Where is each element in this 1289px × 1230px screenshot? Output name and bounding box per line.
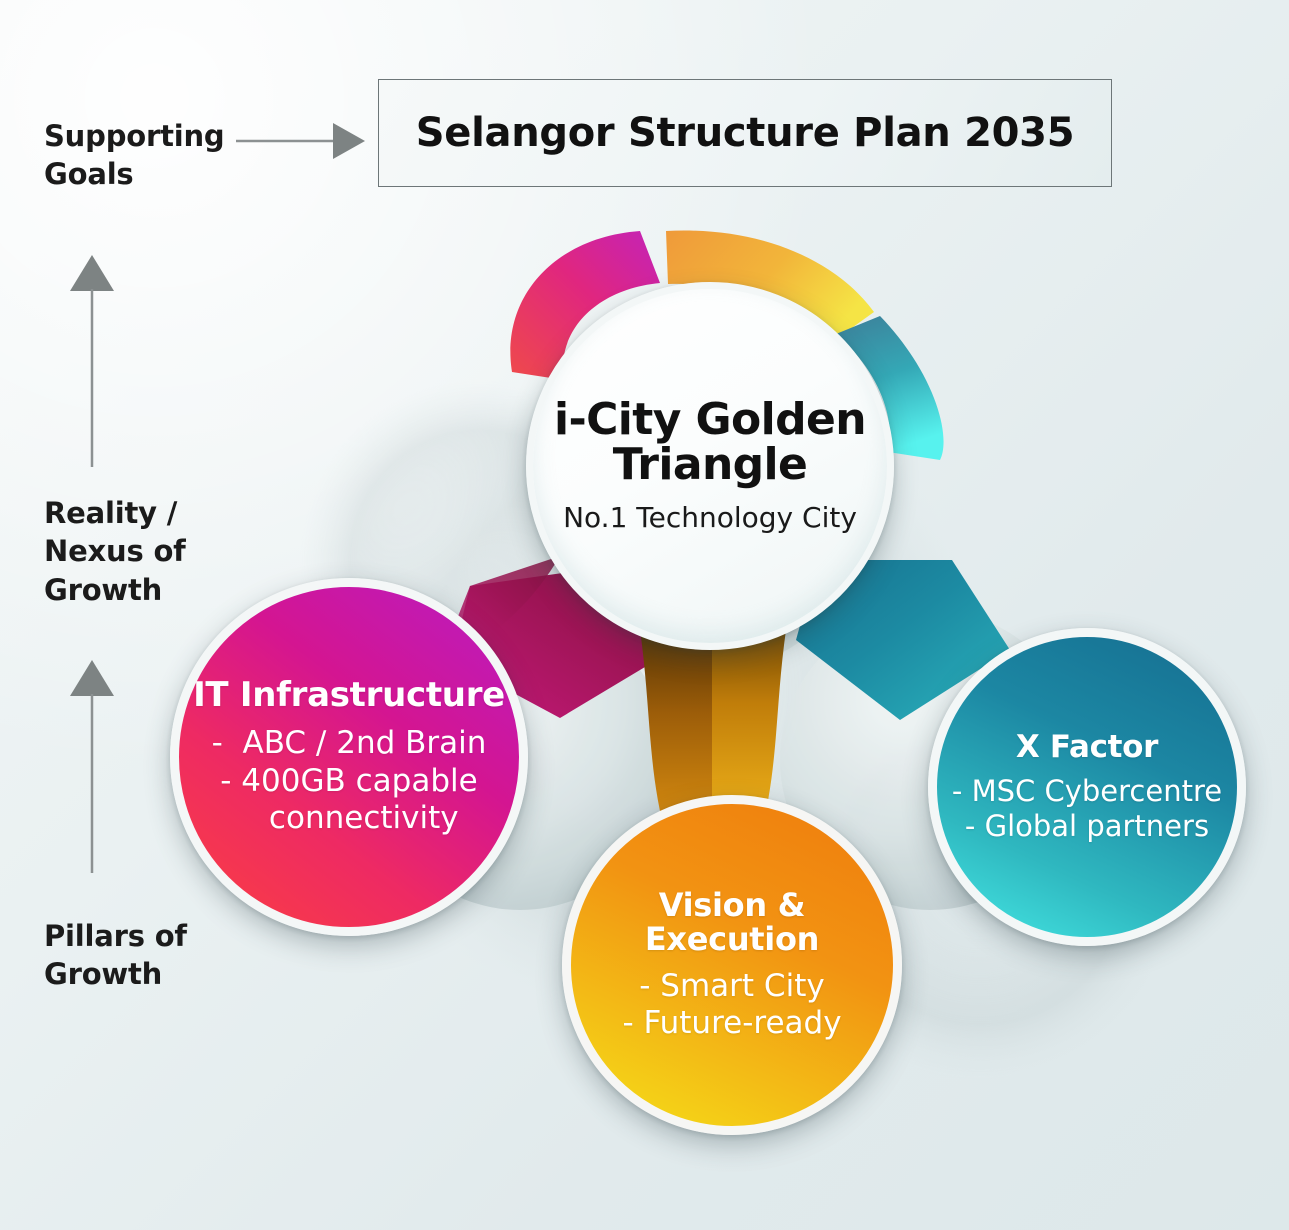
node-vision-heading: Vision & Execution xyxy=(571,888,893,956)
axis-label-reality-nexus: Reality / Nexus of Growth xyxy=(44,494,186,609)
page-title: Selangor Structure Plan 2035 xyxy=(416,110,1074,156)
list-item: - Future-ready xyxy=(622,1005,841,1042)
diagram-canvas: Supporting Goals Reality / Nexus of Grow… xyxy=(0,0,1289,1230)
plan-title-box: Selangor Structure Plan 2035 xyxy=(378,79,1112,187)
node-x-factor[interactable]: X Factor - MSC Cybercentre - Global part… xyxy=(928,628,1246,946)
node-it-heading: IT Infrastructure xyxy=(193,677,505,713)
node-x-bullets: - MSC Cybercentre - Global partners xyxy=(952,774,1222,844)
arrow-right-icon xyxy=(232,118,372,164)
node-i-city-golden-triangle[interactable]: i-City Golden Triangle No.1 Technology C… xyxy=(526,282,894,650)
list-item: connectivity xyxy=(212,800,487,837)
list-item: - 400GB capable xyxy=(212,763,487,800)
node-vision-bullets: - Smart City - Future-ready xyxy=(622,968,841,1042)
node-center-subtitle: No.1 Technology City xyxy=(563,501,857,534)
list-item: - Smart City xyxy=(622,968,841,1005)
node-it-infrastructure[interactable]: IT Infrastructure - ABC / 2nd Brain - 40… xyxy=(170,578,528,936)
list-item: - MSC Cybercentre xyxy=(952,774,1222,809)
arrow-up-icon xyxy=(68,253,116,469)
list-item: - Global partners xyxy=(952,809,1222,844)
arrow-up-icon xyxy=(68,658,116,875)
axis-label-pillars-of-growth: Pillars of Growth xyxy=(44,917,187,994)
node-x-heading: X Factor xyxy=(1016,731,1158,764)
list-item: - ABC / 2nd Brain xyxy=(212,725,487,762)
axis-label-supporting-goals: Supporting Goals xyxy=(44,117,224,194)
node-vision-execution[interactable]: Vision & Execution - Smart City - Future… xyxy=(562,795,902,1135)
node-center-title: i-City Golden Triangle xyxy=(533,398,887,488)
node-it-bullets: - ABC / 2nd Brain - 400GB capable connec… xyxy=(212,725,487,837)
